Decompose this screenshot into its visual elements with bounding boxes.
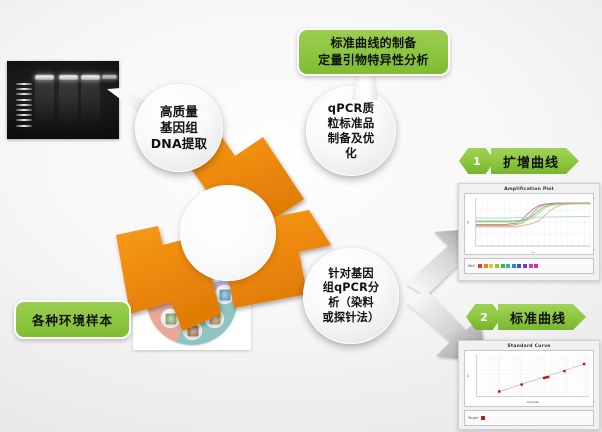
agarose-gel-image (7, 61, 119, 139)
slide-canvas: 高质量 基因组 DNA提取 qPCR质 粒标准品 制备及优 化 针对基因 组qP… (0, 0, 602, 432)
node1-line2: 基因组 (151, 120, 208, 136)
cycle-node-1-text: 高质量 基因组 DNA提取 (145, 104, 214, 153)
amplification-plot-title: Amplification Plot (459, 184, 599, 192)
gel-band (81, 75, 100, 80)
svg-text:Quantity: Quantity (527, 400, 540, 404)
node1-line3: DNA提取 (151, 136, 208, 152)
amplification-plot-area: CycleΔRn (464, 193, 594, 255)
standard-curve-card: Standard Curve QuantityCt Target (458, 340, 600, 430)
tag-2-label: 标准曲线 (498, 304, 586, 330)
callout-top-line1: 标准曲线的制备 (330, 35, 416, 52)
svg-text:ΔRn: ΔRn (466, 220, 469, 223)
cycle-node-dna-extraction[interactable]: 高质量 基因组 DNA提取 (135, 84, 223, 172)
tag-1-label: 扩增曲线 (491, 148, 579, 174)
node2-line3: 制备及优 (328, 131, 375, 146)
result-tag-2[interactable]: 2 标准曲线 (466, 304, 586, 330)
node2-line2: 粒标准品 (328, 116, 375, 131)
tag-2-number-badge: 2 (466, 304, 502, 330)
amplification-plot-legend: Well (464, 258, 594, 274)
gel-lane-smear (35, 81, 54, 127)
cycle-node-2-text: qPCR质 粒标准品 制备及优 化 (322, 101, 381, 161)
dna-ladder (16, 83, 32, 133)
node3-line1: 针对基因 (323, 267, 380, 282)
node2-line4: 化 (328, 146, 375, 161)
callout-env-line1: 各种环境样本 (32, 310, 113, 329)
gel-band (102, 75, 117, 79)
callout-standard-curve-prep: 标准曲线的制备 定量引物特异性分析 (297, 28, 450, 76)
cycle-node-qpcr-analysis[interactable]: 针对基因 组qPCR分 析（染料 或探针法） (303, 248, 399, 344)
svg-text:Ct: Ct (466, 373, 470, 377)
node3-line3: 析（染料 (323, 296, 380, 311)
gel-lane-smear (81, 81, 100, 127)
cycle-node-plasmid-standard[interactable]: qPCR质 粒标准品 制备及优 化 (306, 86, 396, 176)
standard-curve-legend: Target (464, 410, 594, 426)
node1-line1: 高质量 (151, 104, 208, 120)
gel-lane-smear (59, 81, 78, 127)
legend-caption: Well (468, 264, 475, 268)
standard-curve-title: Standard Curve (459, 341, 599, 349)
gel-band (59, 75, 78, 80)
legend-caption: Target (468, 416, 478, 420)
callout-top-line2: 定量引物特异性分析 (318, 52, 429, 69)
amplification-plot-card: Amplification Plot CycleΔRn Well (458, 183, 600, 281)
node3-line4: 或探针法） (323, 311, 380, 326)
svg-text:Cycle: Cycle (531, 252, 536, 254)
cycle-hub (180, 185, 276, 281)
node3-line2: 组qPCR分 (323, 281, 380, 296)
gel-band (35, 75, 54, 80)
callout-environmental-samples: 各种环境样本 (14, 300, 131, 339)
node2-line1: qPCR质 (328, 101, 375, 116)
tag-1-number-badge: 1 (459, 148, 495, 174)
result-tag-1[interactable]: 1 扩增曲线 (459, 148, 579, 174)
standard-curve-plot-area: QuantityCt (464, 350, 594, 407)
cycle-node-3-text: 针对基因 组qPCR分 析（染料 或探针法） (317, 267, 386, 325)
